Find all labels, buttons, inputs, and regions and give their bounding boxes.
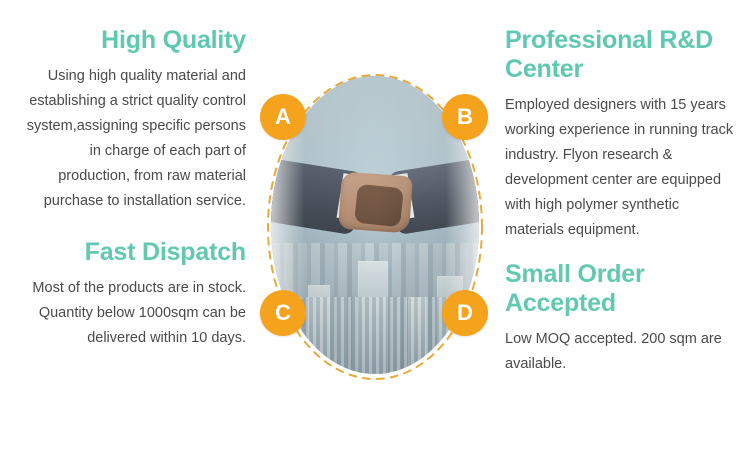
feature-body-fast-dispatch: Most of the products are in stock. Quant…: [18, 276, 246, 351]
badge-c: C: [260, 290, 306, 336]
right-column-spacer: [505, 243, 737, 260]
badge-b-label: B: [457, 104, 473, 130]
feature-title-small-order: Small Order Accepted: [505, 260, 737, 318]
feature-body-high-quality: Using high quality material and establis…: [18, 64, 246, 214]
feature-infographic: High Quality Using high quality material…: [0, 0, 750, 450]
left-column-spacer: [18, 214, 246, 238]
feature-title-rd-center: Professional R&D Center: [505, 26, 737, 84]
badge-d: D: [442, 290, 488, 336]
center-graphic: A B C D: [246, 58, 504, 398]
badge-a-label: A: [275, 104, 291, 130]
feature-body-small-order: Low MOQ accepted. 200 sqm are available.: [505, 327, 737, 377]
badge-a: A: [260, 94, 306, 140]
feature-body-rd-center: Employed designers with 15 years working…: [505, 93, 737, 243]
badge-c-label: C: [275, 300, 291, 326]
feature-title-high-quality: High Quality: [18, 26, 246, 55]
feature-title-fast-dispatch: Fast Dispatch: [18, 238, 246, 267]
badge-b: B: [442, 94, 488, 140]
left-features-column: High Quality Using high quality material…: [18, 26, 246, 351]
badge-d-label: D: [457, 300, 473, 326]
right-features-column: Professional R&D Center Employed designe…: [505, 26, 737, 377]
